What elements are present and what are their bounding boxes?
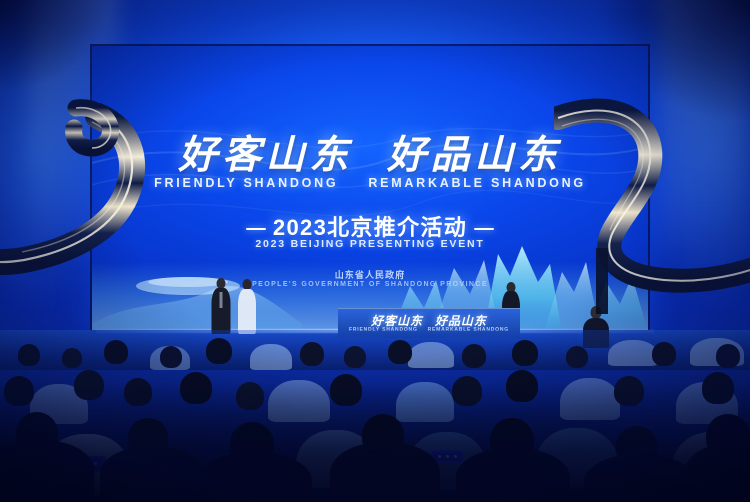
stage-photograph: 好客山东好品山东 FRIENDLY SHANDONGREMARKABLE SHA… <box>0 0 750 502</box>
photo-vignette <box>0 0 750 502</box>
